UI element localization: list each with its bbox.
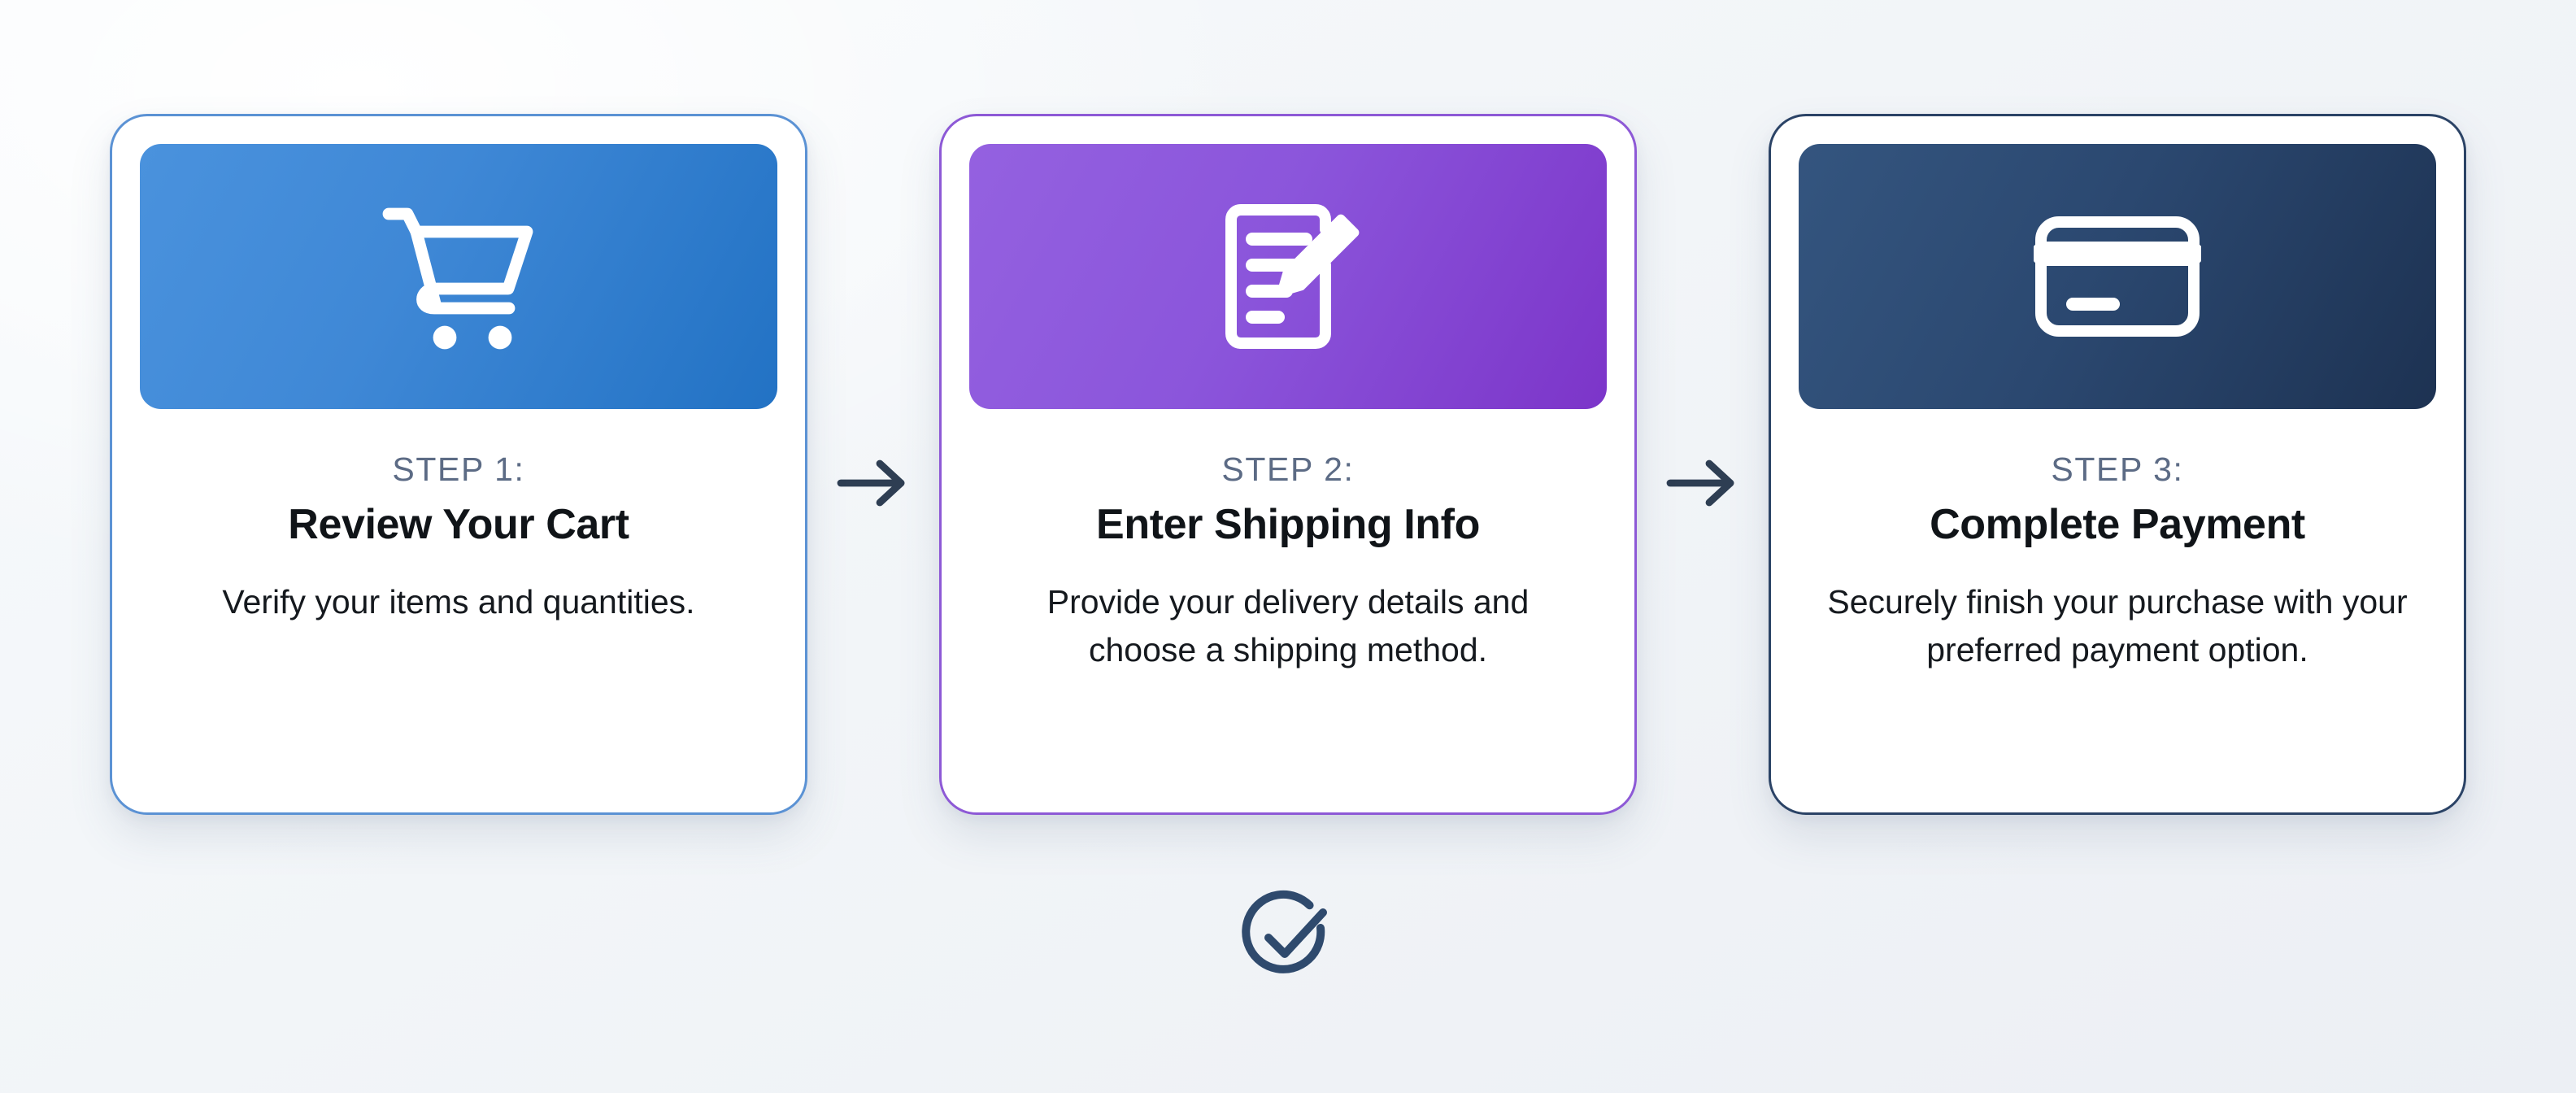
step-1-title: Review Your Cart [161, 501, 756, 549]
step-card-2[interactable]: STEP 2: Enter Shipping Info Provide your… [939, 114, 1637, 815]
step-2-icon-panel [969, 144, 1607, 409]
step-3-description: Securely finish your purchase with your … [1820, 578, 2415, 673]
step-2-eyebrow: STEP 2: [990, 451, 1586, 488]
check-circle-icon [1238, 888, 1338, 991]
step-3-body: STEP 3: Complete Payment Securely finish… [1799, 409, 2436, 673]
step-2-body: STEP 2: Enter Shipping Info Provide your… [969, 409, 1607, 673]
step-card-1[interactable]: STEP 1: Review Your Cart Verify your ite… [110, 114, 807, 815]
checkout-steps-flow: STEP 1: Review Your Cart Verify your ite… [0, 114, 2576, 821]
step-2-title: Enter Shipping Info [990, 501, 1586, 549]
document-pencil-icon [1212, 200, 1364, 353]
step-1-description: Verify your items and quantities. [161, 578, 756, 625]
step-1-icon-panel [140, 144, 777, 409]
shopping-cart-icon [379, 202, 538, 351]
step-2-description: Provide your delivery details and choose… [990, 578, 1586, 673]
step-3-eyebrow: STEP 3: [1820, 451, 2415, 488]
arrow-right-icon [1665, 459, 1740, 512]
credit-card-icon [2034, 215, 2201, 338]
step-1-body: STEP 1: Review Your Cart Verify your ite… [140, 409, 777, 626]
connector-2 [1637, 114, 1769, 512]
step-card-3[interactable]: STEP 3: Complete Payment Securely finish… [1769, 114, 2466, 815]
connector-1 [807, 114, 939, 512]
completion-badge [0, 888, 2576, 991]
step-3-icon-panel [1799, 144, 2436, 409]
step-1-eyebrow: STEP 1: [161, 451, 756, 488]
arrow-right-icon [836, 459, 911, 512]
step-3-title: Complete Payment [1820, 501, 2415, 549]
